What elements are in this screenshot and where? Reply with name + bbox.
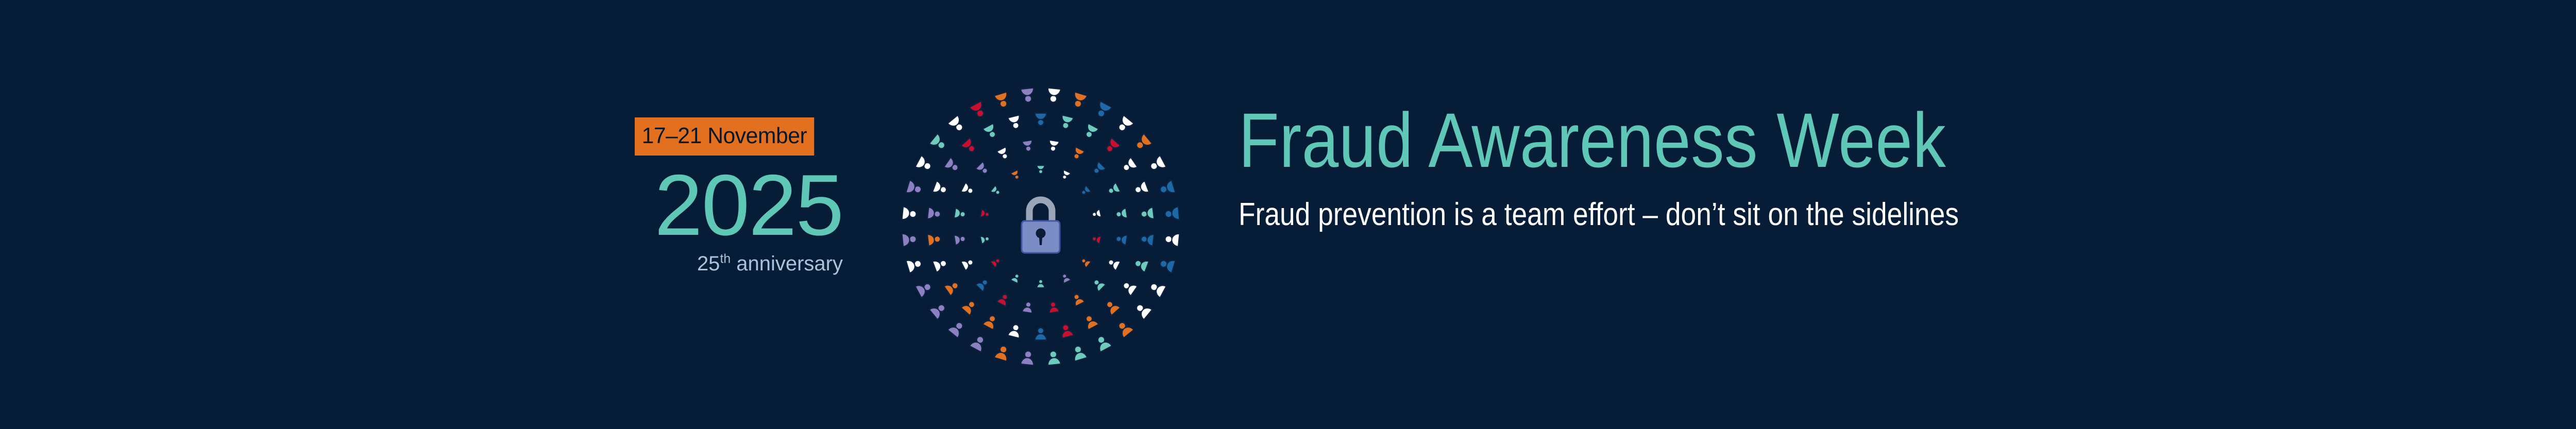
event-year: 2025 xyxy=(635,165,843,246)
person-icon xyxy=(1048,301,1059,313)
person-icon xyxy=(1148,280,1166,298)
person-icon xyxy=(1091,277,1106,291)
person-icon xyxy=(1035,328,1046,340)
person-icon xyxy=(927,233,941,246)
person-icon xyxy=(944,279,961,296)
person-icon xyxy=(990,256,1002,268)
person-icon xyxy=(1107,257,1121,270)
person-icon xyxy=(980,235,990,244)
person-icon xyxy=(1059,115,1074,130)
headline-block: Fraud Awareness Week Fraud prevention is… xyxy=(1239,101,2576,232)
person-icon xyxy=(1008,115,1022,130)
person-icon xyxy=(976,277,990,291)
person-icon xyxy=(983,313,999,330)
person-icon xyxy=(1133,301,1153,319)
page-title: Fraud Awareness Week xyxy=(1239,101,2576,180)
person-icon xyxy=(933,181,948,196)
event-date-badge: 17–21 November xyxy=(635,117,814,156)
person-icon xyxy=(1071,293,1084,306)
person-icon xyxy=(947,319,966,338)
person-icon xyxy=(1104,298,1121,315)
person-icon xyxy=(990,185,1002,197)
person-icon xyxy=(906,180,923,197)
person-icon xyxy=(1091,162,1106,176)
person-icon xyxy=(1059,323,1074,338)
person-icon xyxy=(970,334,988,352)
person-icon xyxy=(1115,208,1127,219)
logo-container xyxy=(889,75,1193,379)
person-icon xyxy=(1115,115,1133,134)
anniversary-label: 25th anniversary xyxy=(635,253,843,274)
person-icon xyxy=(970,101,988,119)
padlock-icon xyxy=(1022,200,1060,253)
person-icon xyxy=(1164,232,1179,246)
person-icon xyxy=(1035,113,1046,126)
anniversary-ordinal-suffix: th xyxy=(720,252,731,266)
person-icon xyxy=(929,301,948,319)
person-icon xyxy=(1159,256,1176,273)
people-circle-logo-icon xyxy=(889,75,1193,379)
person-icon xyxy=(1071,92,1087,109)
person-icon xyxy=(954,208,966,219)
person-icon xyxy=(1094,101,1112,119)
person-icon xyxy=(994,345,1011,362)
person-icon xyxy=(1115,234,1127,245)
person-icon xyxy=(1140,207,1154,220)
person-icon xyxy=(1092,209,1101,218)
person-icon xyxy=(1037,165,1045,174)
person-icon xyxy=(980,209,990,218)
person-icon xyxy=(1071,147,1084,161)
person-icon xyxy=(902,207,917,220)
person-icon xyxy=(906,256,923,273)
person-icon xyxy=(1107,183,1121,196)
fraud-awareness-week-banner: 17–21 November 2025 25th anniversary xyxy=(0,0,2576,429)
person-icon xyxy=(1140,233,1154,246)
tagline: Fraud prevention is a team effort – don’… xyxy=(1239,197,2576,232)
person-icon xyxy=(961,138,978,155)
person-icon xyxy=(994,92,1011,109)
person-icon xyxy=(1121,158,1138,174)
person-icon xyxy=(1022,301,1033,313)
person-icon xyxy=(997,147,1010,161)
anniversary-word: anniversary xyxy=(731,252,843,275)
person-icon xyxy=(1092,235,1101,244)
person-icon xyxy=(976,162,990,176)
person-icon xyxy=(1082,313,1098,330)
person-icon xyxy=(1104,138,1121,155)
person-icon xyxy=(929,133,948,152)
person-icon xyxy=(1048,140,1059,152)
person-icon xyxy=(961,183,975,196)
person-icon xyxy=(961,257,975,270)
person-icon xyxy=(1011,170,1021,181)
person-icon xyxy=(1046,88,1060,103)
date-block: 17–21 November 2025 25th anniversary xyxy=(635,117,851,323)
person-icon xyxy=(902,232,917,246)
person-icon xyxy=(1046,350,1060,365)
person-icon xyxy=(983,124,999,140)
person-icon xyxy=(1060,272,1071,283)
person-icon xyxy=(1071,345,1087,362)
person-icon xyxy=(1060,170,1071,181)
person-icon xyxy=(1008,323,1022,338)
person-icon xyxy=(1082,124,1098,140)
person-icon xyxy=(1080,256,1091,268)
person-icon xyxy=(1159,180,1176,197)
person-icon xyxy=(1037,280,1045,288)
person-icon xyxy=(1148,156,1166,174)
person-icon xyxy=(1121,279,1138,296)
anniversary-number: 25 xyxy=(697,252,720,275)
person-icon xyxy=(1133,257,1149,272)
person-icon xyxy=(933,257,948,272)
person-icon xyxy=(927,207,941,220)
person-icon xyxy=(1133,181,1149,196)
person-icon xyxy=(944,158,961,174)
person-icon xyxy=(954,234,966,245)
person-icon xyxy=(997,293,1010,306)
person-icon xyxy=(915,156,933,174)
person-icon xyxy=(1164,207,1179,220)
person-icon xyxy=(947,115,966,134)
person-icon xyxy=(1115,319,1133,338)
person-icon xyxy=(915,280,933,298)
person-icon xyxy=(1021,350,1035,365)
person-icon xyxy=(1080,185,1091,197)
person-icon xyxy=(1021,88,1035,103)
person-icon xyxy=(961,298,978,315)
person-icon xyxy=(1094,334,1112,352)
person-icon xyxy=(1022,140,1033,152)
person-icon xyxy=(1133,133,1153,152)
person-icon xyxy=(1011,272,1021,283)
